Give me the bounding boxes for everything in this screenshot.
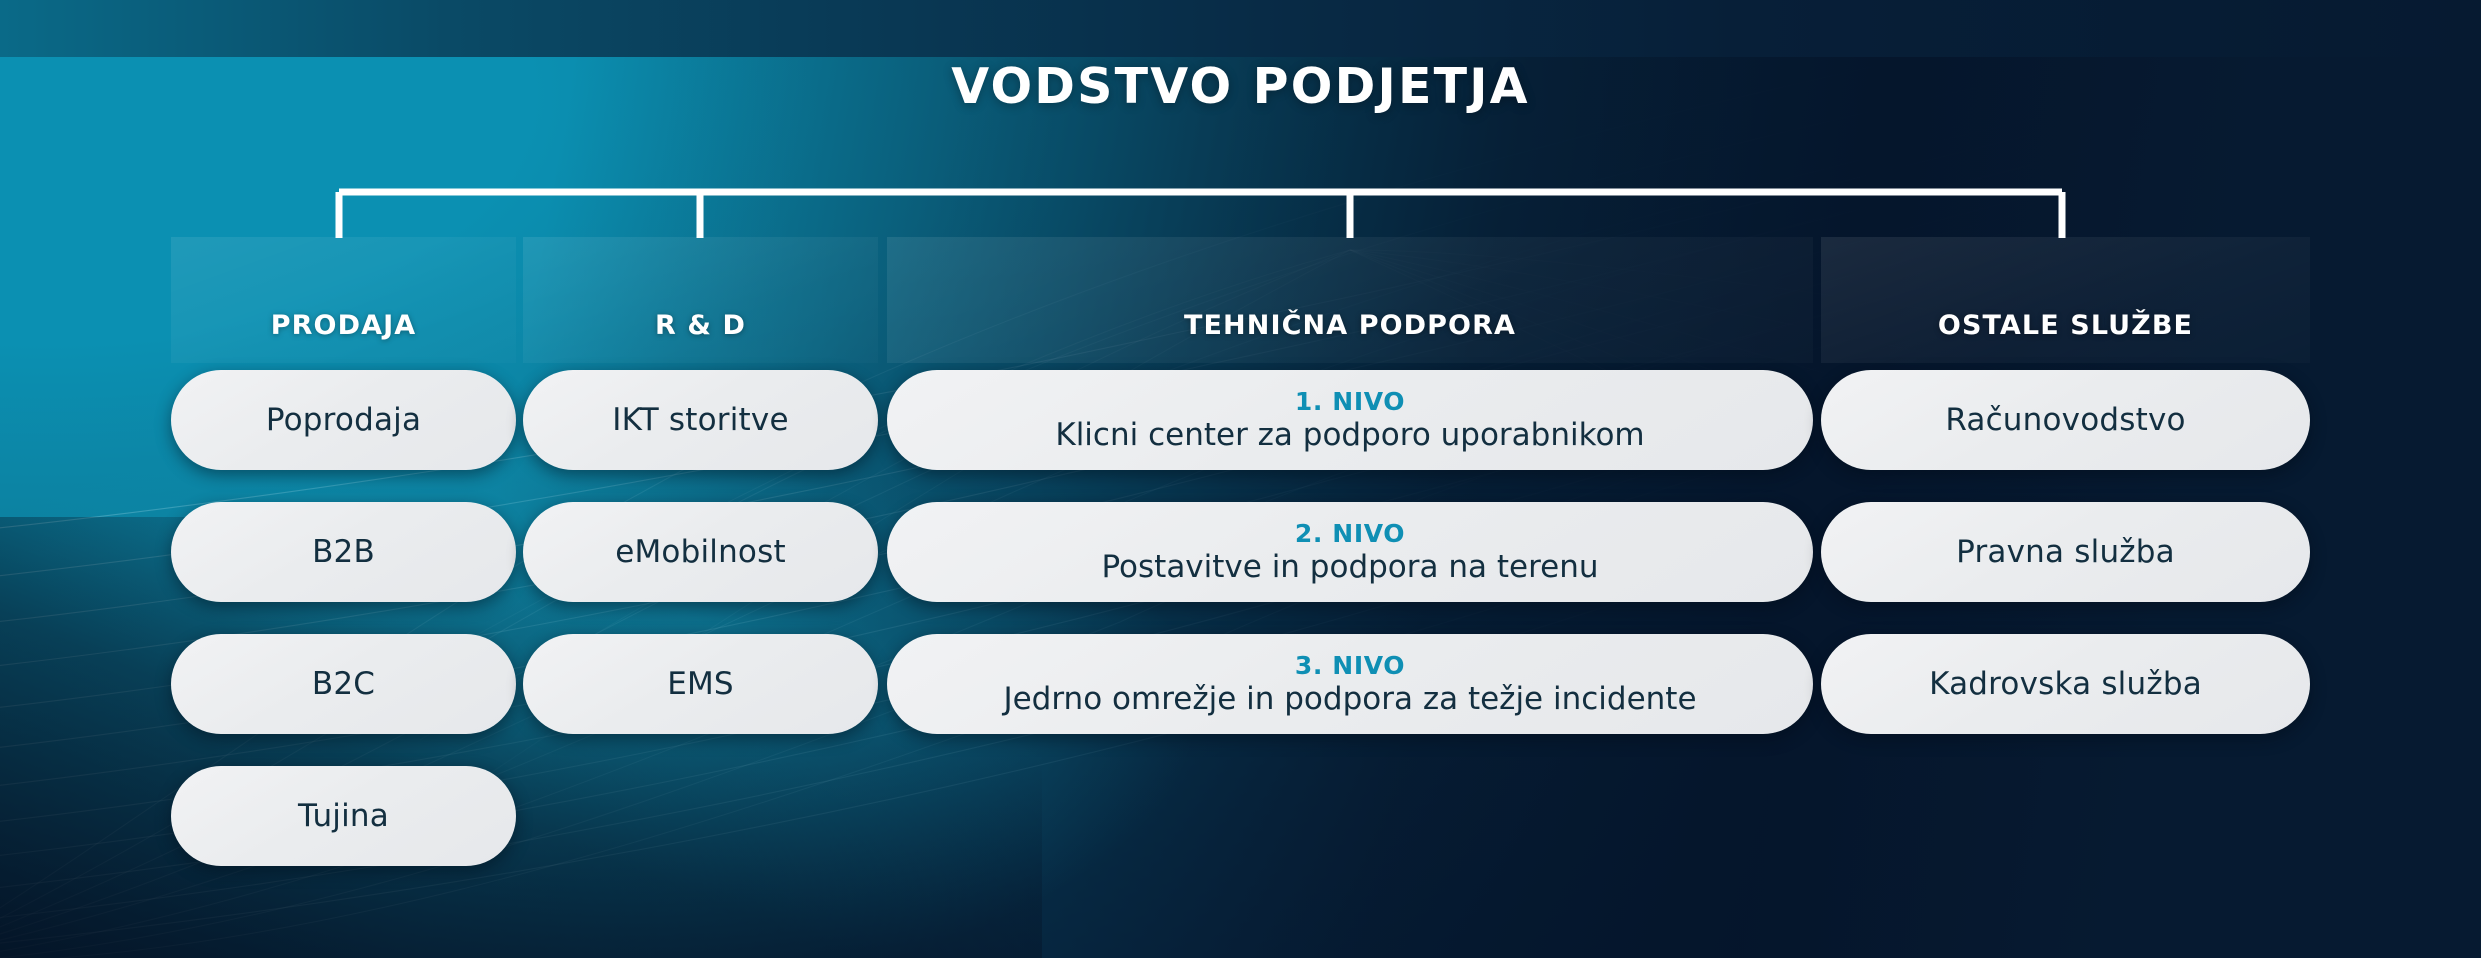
org-node-level: 3. NIVO	[1295, 651, 1405, 680]
org-node-level: 1. NIVO	[1295, 387, 1405, 416]
column-items-tehnicna-podpora: 1. NIVO Klicni center za podporo uporabn…	[887, 370, 1813, 766]
org-node-label: Poprodaja	[266, 402, 421, 438]
org-node-label: Računovodstvo	[1945, 402, 2185, 438]
org-node[interactable]: IKT storitve	[523, 370, 878, 470]
background-top-band	[0, 0, 2481, 57]
org-node[interactable]: B2C	[171, 634, 516, 734]
org-column-tehnicna-podpora: TEHNIČNA PODPORA 1. NIVO Klicni center z…	[887, 237, 1813, 363]
org-node-label: B2C	[312, 666, 375, 702]
org-node[interactable]: Računovodstvo	[1821, 370, 2310, 470]
org-node[interactable]: Pravna služba	[1821, 502, 2310, 602]
org-node[interactable]: EMS	[523, 634, 878, 734]
org-column-prodaja: PRODAJA Poprodaja B2B B2C Tujina	[171, 237, 516, 363]
org-node[interactable]: 2. NIVO Postavitve in podpora na terenu	[887, 502, 1813, 602]
org-node-description: Klicni center za podporo uporabnikom	[1055, 417, 1644, 454]
column-items-ostale-sluzbe: Računovodstvo Pravna služba Kadrovska sl…	[1821, 370, 2310, 766]
org-node[interactable]: Kadrovska služba	[1821, 634, 2310, 734]
background-dark-corner	[0, 517, 1042, 958]
org-node-level: 2. NIVO	[1295, 519, 1405, 548]
org-column-ostale-sluzbe: OSTALE SLUŽBE Računovodstvo Pravna služb…	[1821, 237, 2310, 363]
column-header-label: PRODAJA	[271, 310, 416, 341]
column-header-rd: R & D	[523, 237, 878, 363]
column-header-tehnicna-podpora: TEHNIČNA PODPORA	[887, 237, 1813, 363]
org-node[interactable]: 3. NIVO Jedrno omrežje in podpora za tež…	[887, 634, 1813, 734]
org-node[interactable]: 1. NIVO Klicni center za podporo uporabn…	[887, 370, 1813, 470]
column-header-label: TEHNIČNA PODPORA	[1184, 310, 1516, 341]
org-node-label: Tujina	[298, 798, 389, 834]
org-node[interactable]: Tujina	[171, 766, 516, 866]
org-column-rd: R & D IKT storitve eMobilnost EMS	[523, 237, 878, 363]
column-items-rd: IKT storitve eMobilnost EMS	[523, 370, 878, 766]
org-node-label: EMS	[667, 666, 734, 702]
org-node[interactable]: B2B	[171, 502, 516, 602]
org-node-label: Pravna služba	[1956, 534, 2175, 570]
org-node-label: eMobilnost	[615, 534, 786, 570]
org-node-description: Jedrno omrežje in podpora za težje incid…	[1003, 681, 1696, 718]
column-items-prodaja: Poprodaja B2B B2C Tujina	[171, 370, 516, 898]
column-header-label: R & D	[655, 310, 746, 341]
page-title: VODSTVO PODJETJA	[0, 55, 2481, 119]
org-node-label: Kadrovska služba	[1929, 666, 2202, 702]
org-node-label: IKT storitve	[612, 402, 788, 438]
column-header-prodaja: PRODAJA	[171, 237, 516, 363]
org-node-description: Postavitve in podpora na terenu	[1101, 549, 1598, 586]
column-header-ostale-sluzbe: OSTALE SLUŽBE	[1821, 237, 2310, 363]
org-node[interactable]: eMobilnost	[523, 502, 878, 602]
org-node[interactable]: Poprodaja	[171, 370, 516, 470]
org-node-label: B2B	[312, 534, 375, 570]
column-header-label: OSTALE SLUŽBE	[1938, 310, 2193, 341]
